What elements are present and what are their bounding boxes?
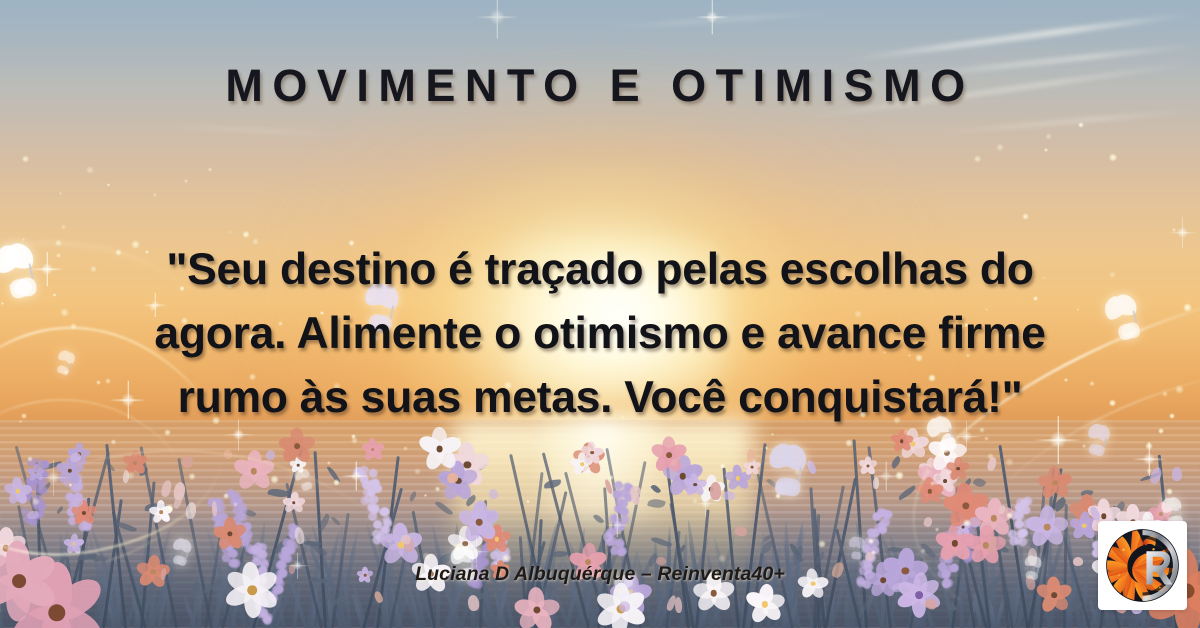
page-title: MOVIMENTO E OTIMISMO	[0, 60, 1200, 112]
quote-line-1: "Seu destino é traçado pelas escolhas do	[90, 238, 1110, 302]
quote-block: "Seu destino é traçado pelas escolhas do…	[90, 238, 1110, 430]
sun-reflection-hotspot	[541, 420, 661, 530]
sea-background	[0, 420, 1200, 628]
butterfly-body	[185, 551, 189, 559]
brand-logo[interactable]	[1098, 521, 1187, 610]
social-quote-card: MOVIMENTO E OTIMISMO "Seu destino é traç…	[0, 0, 1200, 628]
butterfly-body	[630, 585, 633, 593]
butterfly-body	[1178, 508, 1181, 516]
butterfly-body	[28, 263, 33, 279]
author-signature: Luciana D Albuquérque – Reinventa40+	[0, 563, 1200, 586]
phoenix-logo-icon	[1103, 526, 1182, 605]
butterfly	[776, 450, 824, 498]
butterfly-body	[1103, 438, 1107, 447]
quote-line-2: agora. Alimente o otimismo e avance firm…	[90, 302, 1110, 366]
butterfly-body	[860, 546, 863, 553]
butterfly-body	[798, 466, 802, 481]
butterfly	[851, 539, 872, 560]
quote-line-3: rumo às suas metas. Você conquistará!"	[90, 366, 1110, 430]
butterfly	[4, 244, 59, 299]
